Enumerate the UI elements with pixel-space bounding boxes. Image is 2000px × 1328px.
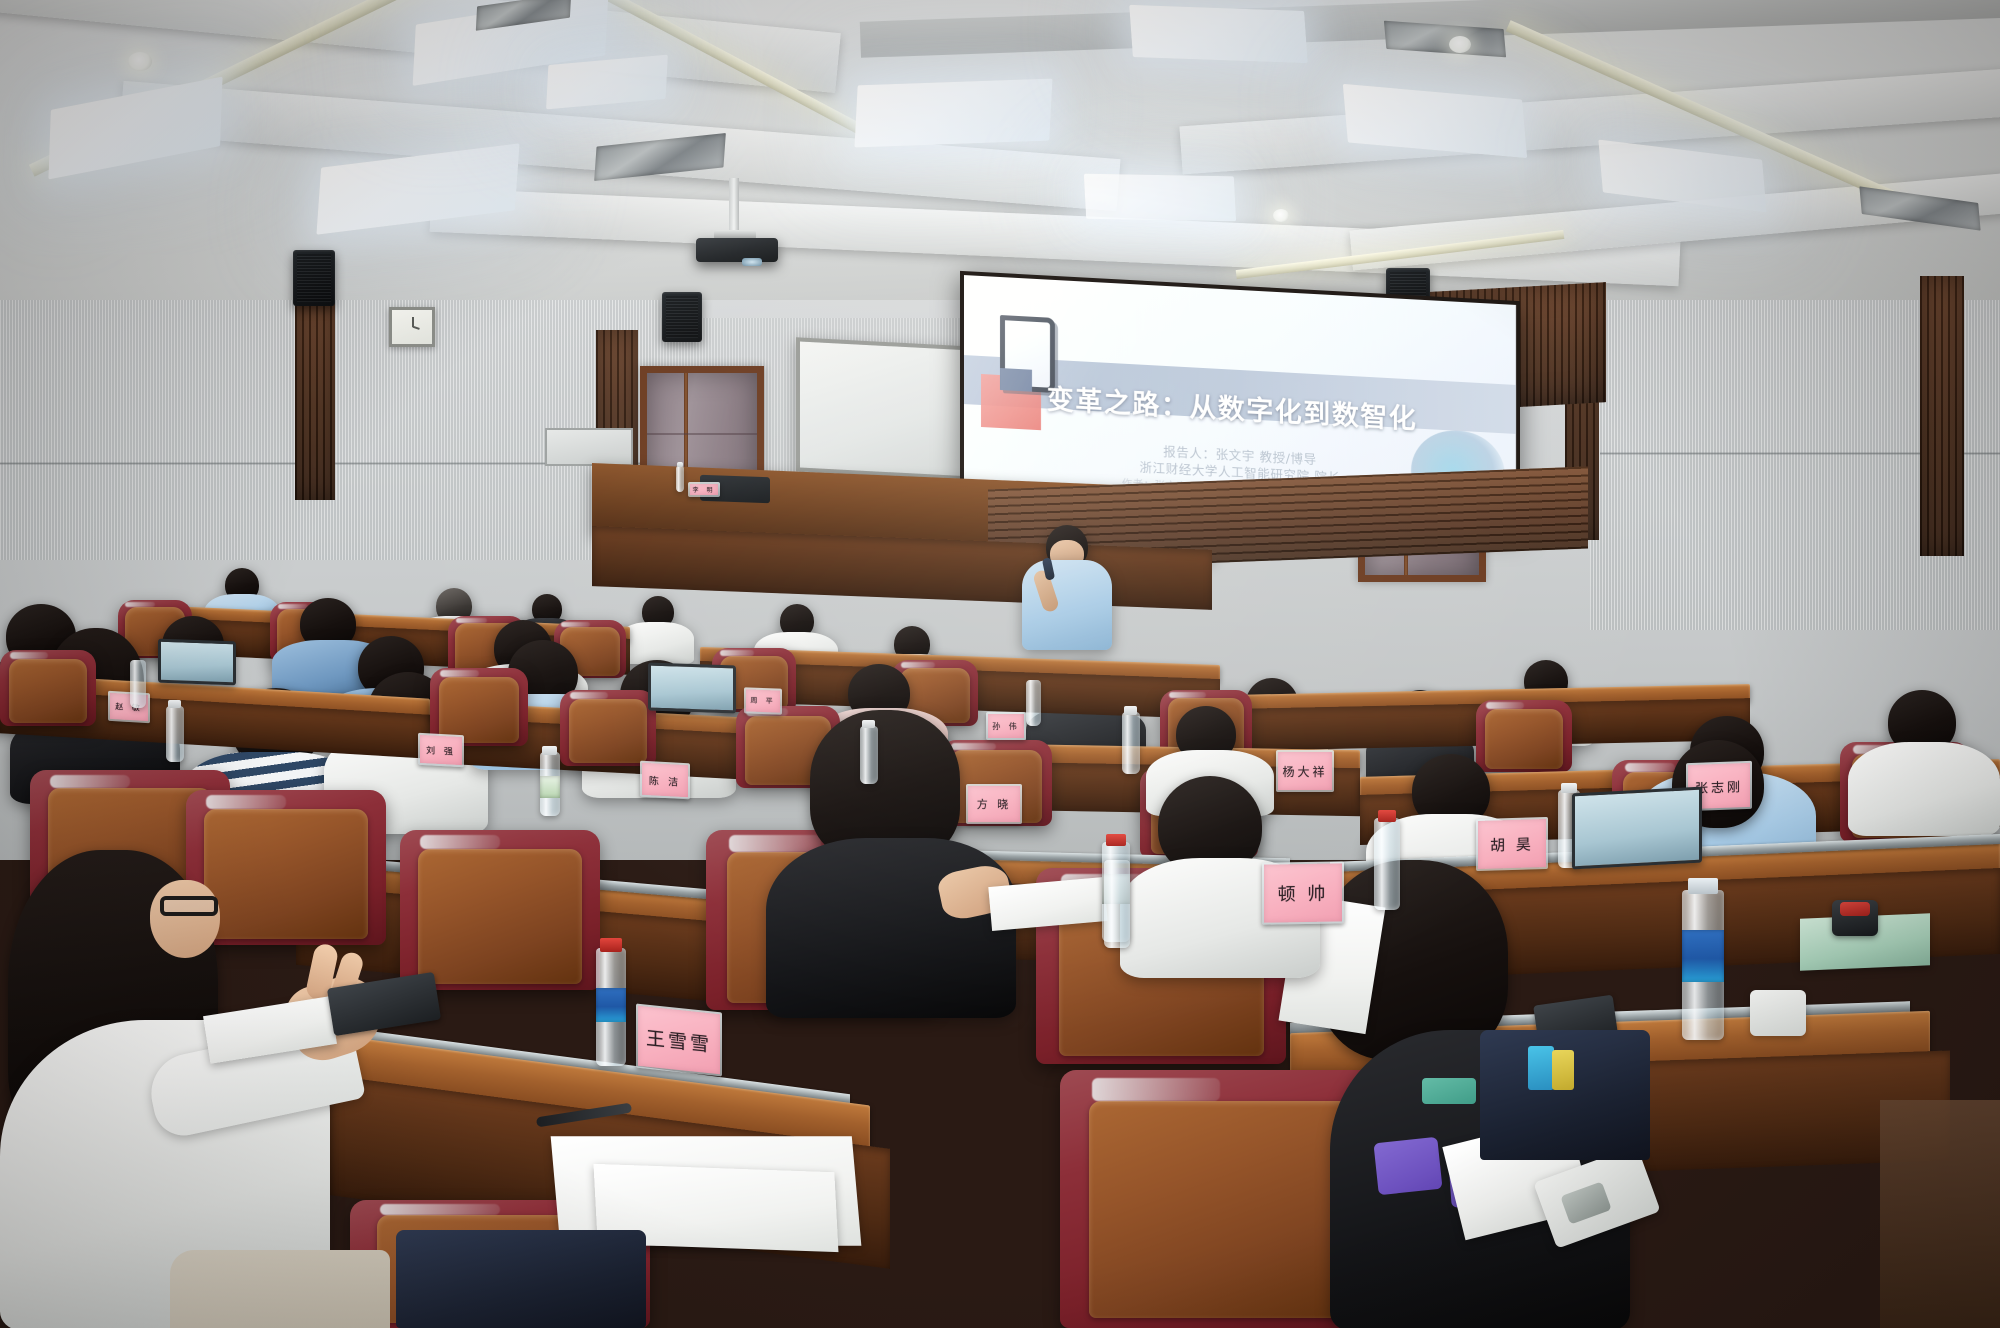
water-bottle: [166, 706, 184, 762]
eyeglasses-icon: [160, 896, 218, 916]
name-placard: 周 平: [744, 687, 782, 714]
tshirt-graphic: [1373, 1137, 1442, 1195]
laptop[interactable]: [1572, 787, 1702, 870]
podium-placard: 李 明: [688, 482, 720, 497]
audience-torso: [766, 838, 1016, 1018]
name-placard-text: 孙 伟: [988, 714, 1024, 738]
bottle-cap: [1378, 810, 1396, 822]
front-whiteboard: [796, 337, 976, 480]
chair[interactable]: [0, 650, 96, 726]
bag-tag: [1552, 1050, 1574, 1090]
name-placard: 方 晓: [966, 784, 1022, 824]
bottle-cap: [1688, 878, 1718, 894]
tshirt-graphic: [1422, 1078, 1476, 1104]
wall-speaker-center: [662, 292, 702, 342]
name-placard: 孙 伟: [986, 712, 1026, 740]
chair[interactable]: [400, 830, 600, 990]
name-placard-text: 方 晓: [968, 786, 1020, 822]
laptop[interactable]: [158, 639, 236, 686]
wall-sign: [545, 428, 633, 466]
ceiling-downlight: [1273, 209, 1289, 222]
water-bottle: [676, 466, 684, 492]
projector-lens: [742, 258, 762, 266]
name-placard: 顿 帅: [1262, 861, 1344, 924]
ceiling-downlight: [128, 52, 152, 71]
water-bottle: [860, 726, 878, 784]
bottle-label: [1682, 930, 1724, 982]
name-placard: 刘 强: [418, 733, 464, 767]
ceiling-light-panel: [854, 79, 1052, 148]
podium-placard-text: 李 明: [690, 484, 718, 495]
water-bottle: [1026, 680, 1041, 726]
bottle-cap: [542, 746, 557, 755]
water-bottle: [130, 660, 146, 708]
ceiling-downlight: [1449, 36, 1471, 53]
name-placard: 胡 昊: [1476, 817, 1548, 871]
wood-pilaster: [295, 300, 335, 500]
name-placard: 杨大祥: [1276, 750, 1334, 792]
bottle-cap: [1106, 834, 1126, 846]
name-placard-text: 周 平: [746, 689, 780, 712]
bottle-cap: [600, 938, 622, 952]
name-placard-text: 胡 昊: [1478, 819, 1546, 869]
foreground-person-face: [150, 880, 220, 958]
name-placard-text: 陈 洁: [642, 763, 688, 797]
laptop[interactable]: [648, 662, 736, 713]
device-indicator: [1840, 902, 1870, 916]
bottle-label: [596, 988, 626, 1022]
water-bottle: [1122, 712, 1140, 774]
audience-torso: [1848, 742, 2000, 836]
bottle-cap: [1561, 783, 1577, 793]
wall-speaker-left: [293, 250, 335, 306]
projector-pole: [729, 178, 739, 234]
bottle-label: [540, 776, 560, 798]
floor: [1880, 1100, 2000, 1328]
bottle-cap: [677, 462, 683, 467]
name-placard-text: 王雪雪: [638, 1006, 720, 1075]
water-bottle: [1104, 860, 1130, 948]
wood-pilaster: [1920, 276, 1964, 556]
name-placard: 王雪雪: [636, 1003, 722, 1076]
foreground-person-lap: [170, 1250, 390, 1328]
bag-tag: [1528, 1046, 1554, 1090]
name-placard-text: 杨大祥: [1278, 752, 1332, 790]
chair[interactable]: [1476, 700, 1572, 772]
bottle-cap: [862, 720, 875, 728]
bottle-cap: [168, 700, 181, 708]
backpack: [396, 1230, 646, 1328]
name-placard-text: 刘 强: [420, 735, 462, 765]
ceiling-light-panel: [1084, 174, 1236, 222]
name-placard: 陈 洁: [640, 761, 690, 800]
cup: [1750, 990, 1806, 1036]
ceiling-light-panel: [1129, 5, 1308, 63]
wall-clock: [389, 307, 435, 347]
bottle-cap: [1124, 706, 1137, 715]
chair[interactable]: [560, 690, 656, 766]
water-bottle: [1374, 818, 1400, 910]
name-placard-text: 顿 帅: [1264, 863, 1342, 922]
ceiling-projector: [696, 238, 778, 262]
lecture-hall-photo: 变革之路：从数字化到数智化 报告人：张文宇 教授/博导 浙江财经大学人工智能研究…: [0, 0, 2000, 1328]
